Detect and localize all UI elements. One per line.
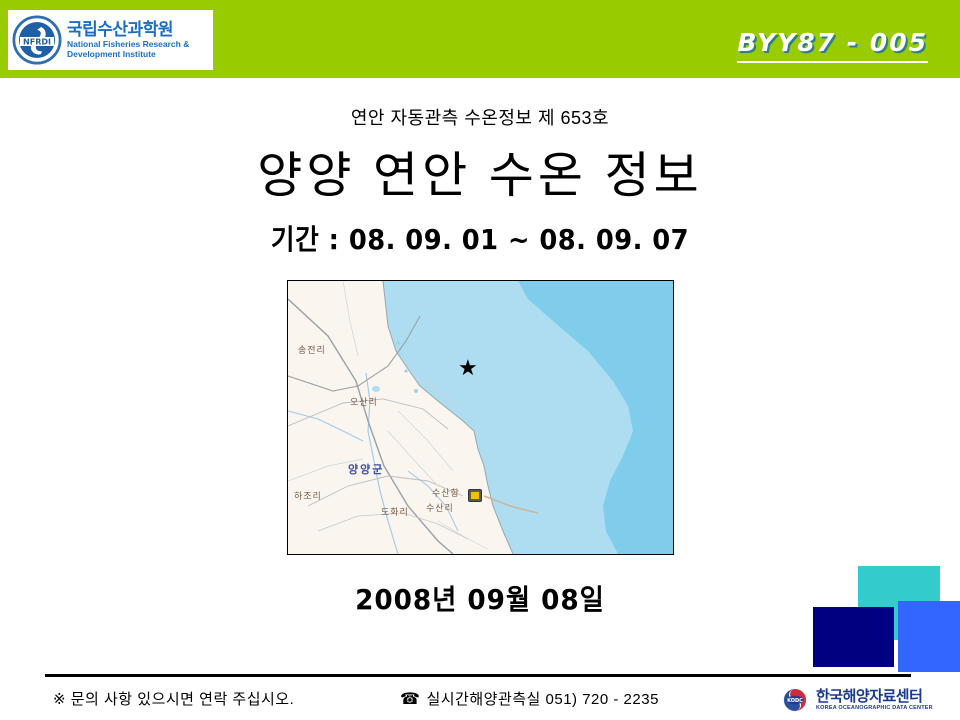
footer-divider: [45, 674, 911, 677]
issue-date: 2008년 09월 08일: [29, 578, 931, 618]
port-icon: [468, 489, 482, 502]
kodc-name-kr: 한국해양자료센터: [816, 689, 933, 704]
svg-text:NFRDI: NFRDI: [23, 38, 51, 47]
kodc-name-en: KOREA OCEANOGRAPHIC DATA CENTER: [816, 706, 933, 712]
nfrdi-logo: NFRDI 국립수산과학원 National Fisheries Researc…: [8, 10, 213, 70]
map-label-songjeon-ri: 송전리: [298, 343, 326, 356]
document-id: BYY87 - 005: [737, 28, 928, 63]
footer-phone-line: ☎실시간해양관측실 051) 720 - 2235: [400, 688, 659, 709]
footer-contact-note: ※ 문의 사항 있으시면 연락 주십시오.: [53, 688, 294, 709]
nfrdi-name-en: National Fisheries Research & Developmen…: [67, 40, 189, 60]
page-title: 양양 연안 수온 정보: [0, 148, 960, 204]
station-marker-icon: ★: [458, 357, 478, 379]
nfrdi-name-en-line2: Development Institute: [67, 50, 189, 60]
map-label-susan-ri: 수산리: [426, 501, 454, 514]
map-label-yangyang-gun: 양양군: [348, 461, 384, 477]
location-map: ★ 송전리 오산리 양양군 하조리 도화리 수산리 수산항: [287, 280, 674, 555]
report-subtitle: 연안 자동관측 수온정보 제 653호: [0, 104, 960, 130]
period-range: 기간 : 08. 09. 01 ~ 08. 09. 07: [38, 218, 921, 258]
footer-phone-text: 실시간해양관측실 051) 720 - 2235: [426, 691, 658, 708]
nfrdi-emblem-icon: NFRDI: [12, 15, 62, 65]
map-label-osan-ri: 오산리: [350, 395, 378, 408]
kodc-logo: KODC 한국해양자료센터 KOREA OCEANOGRAPHIC DATA C…: [778, 688, 933, 712]
map-graphic: [288, 281, 673, 554]
map-label-dohwa-ri: 도화리: [381, 505, 409, 518]
decor-square-blue: [898, 601, 960, 672]
nfrdi-name-kr: 국립수산과학원: [67, 21, 189, 38]
telephone-icon: ☎: [400, 691, 420, 708]
map-label-susan-hang: 수산항: [432, 486, 460, 499]
svg-text:KODC: KODC: [787, 698, 803, 704]
kodc-mark-icon: KODC: [778, 688, 812, 712]
map-label-hajo-ri: 하조리: [294, 489, 322, 502]
decor-square-navy: [813, 607, 894, 667]
